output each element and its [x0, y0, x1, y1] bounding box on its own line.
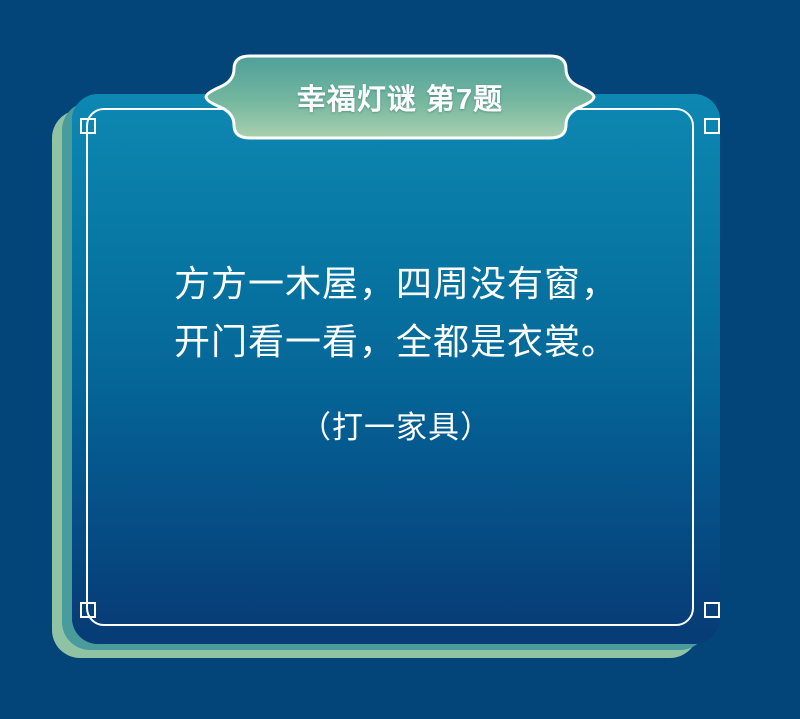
riddle-line-1: 方方一木屋，四周没有窗， [72, 255, 720, 313]
riddle-text: 方方一木屋，四周没有窗， 开门看一看，全都是衣裳。 [72, 255, 720, 371]
title-ribbon: 幸福灯谜 第7题 [206, 56, 594, 138]
corner-square-top-right [704, 118, 720, 134]
corner-square-top-left [80, 118, 96, 134]
card-title: 幸福灯谜 第7题 [206, 56, 594, 138]
lantern-riddle-card: 幸福灯谜 第7题 方方一木屋，四周没有窗， 开门看一看，全都是衣裳。 （打一家具… [0, 0, 800, 719]
riddle-line-2: 开门看一看，全都是衣裳。 [72, 313, 720, 371]
corner-square-bottom-left [80, 602, 96, 618]
corner-square-bottom-right [704, 602, 720, 618]
riddle-hint: （打一家具） [72, 405, 720, 451]
